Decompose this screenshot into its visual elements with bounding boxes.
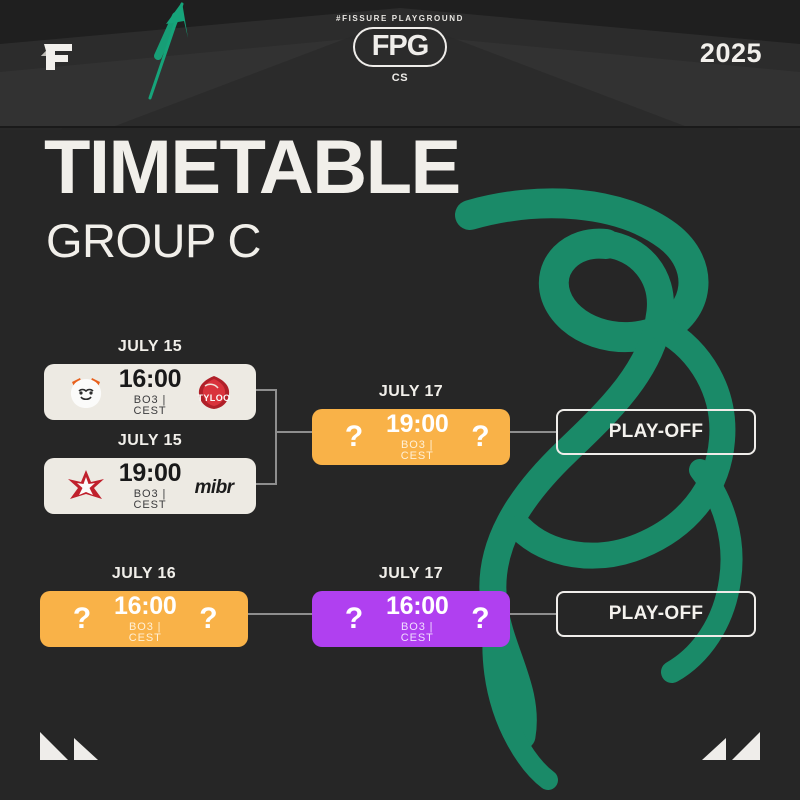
match-card[interactable]: ? 16:00 BO3 | CEST ? xyxy=(40,591,248,647)
timetable-graphic: 2025 #FISSURE PLAYGROUND FPG CS TIMETABL… xyxy=(0,0,800,800)
match-card[interactable]: 19:00 BO3 | CEST mibr xyxy=(44,458,256,514)
match-date: JULY 17 xyxy=(312,565,510,583)
match-format: BO3 | CEST xyxy=(386,622,448,644)
playoff-label: PLAY-OFF xyxy=(609,603,704,625)
match-date: JULY 15 xyxy=(44,338,256,356)
question-mark-icon: ? xyxy=(180,597,236,641)
fissure-arrow-mark-right xyxy=(700,726,762,762)
bracket: JULY 15 16:00 BO3 | CEST xyxy=(0,0,800,800)
match-date: JULY 17 xyxy=(312,383,510,401)
match-group-lower-final: JULY 17 ? 16:00 BO3 | CEST ? xyxy=(312,565,510,647)
match-time-block: 16:00 BO3 | CEST xyxy=(114,367,186,417)
playoff-box-lower[interactable]: PLAY-OFF xyxy=(556,591,756,637)
playoff-label: PLAY-OFF xyxy=(609,421,704,443)
match-format: BO3 | CEST xyxy=(118,395,182,417)
match-time-block: 19:00 BO3 | CEST xyxy=(382,412,452,462)
question-mark-icon: ? xyxy=(54,597,110,641)
match-group-upper-1: JULY 15 16:00 BO3 | CEST xyxy=(44,338,256,420)
virtuspro-logo-icon xyxy=(58,370,114,414)
svg-text:TYLOO: TYLOO xyxy=(198,393,231,403)
match-time: 16:00 xyxy=(118,367,182,392)
match-date: JULY 15 xyxy=(44,432,256,450)
match-group-upper-2: JULY 15 19:00 BO3 | CEST mibr xyxy=(44,432,256,514)
match-time: 16:00 xyxy=(114,594,176,619)
match-time-block: 19:00 BO3 | CEST xyxy=(114,461,186,511)
match-format: BO3 | CEST xyxy=(386,440,448,462)
question-mark-icon: ? xyxy=(326,415,382,459)
tyloo-logo-icon: TYLOO xyxy=(186,370,242,414)
match-time-block: 16:00 BO3 | CEST xyxy=(382,594,452,644)
fissure-arrow-mark-left xyxy=(38,726,100,762)
match-group-lower-decider: JULY 16 ? 16:00 BO3 | CEST ? xyxy=(40,565,248,647)
question-mark-icon: ? xyxy=(452,415,508,459)
match-time: 16:00 xyxy=(386,594,448,619)
question-mark-icon: ? xyxy=(452,597,508,641)
mibr-logo-icon: mibr xyxy=(186,464,242,508)
match-card[interactable]: ? 19:00 BO3 | CEST ? xyxy=(312,409,510,465)
question-mark-icon: ? xyxy=(326,597,382,641)
match-time: 19:00 xyxy=(386,412,448,437)
match-date: JULY 16 xyxy=(40,565,248,583)
astralis-logo-icon xyxy=(58,464,114,508)
match-time: 19:00 xyxy=(118,461,182,486)
match-card[interactable]: ? 16:00 BO3 | CEST ? xyxy=(312,591,510,647)
match-format: BO3 | CEST xyxy=(114,622,176,644)
match-time-block: 16:00 BO3 | CEST xyxy=(110,594,180,644)
svg-text:mibr: mibr xyxy=(195,477,236,498)
playoff-box-upper[interactable]: PLAY-OFF xyxy=(556,409,756,455)
match-card[interactable]: 16:00 BO3 | CEST TYLOO xyxy=(44,364,256,420)
match-group-upper-winners: JULY 17 ? 19:00 BO3 | CEST ? xyxy=(312,383,510,465)
match-format: BO3 | CEST xyxy=(118,489,182,511)
